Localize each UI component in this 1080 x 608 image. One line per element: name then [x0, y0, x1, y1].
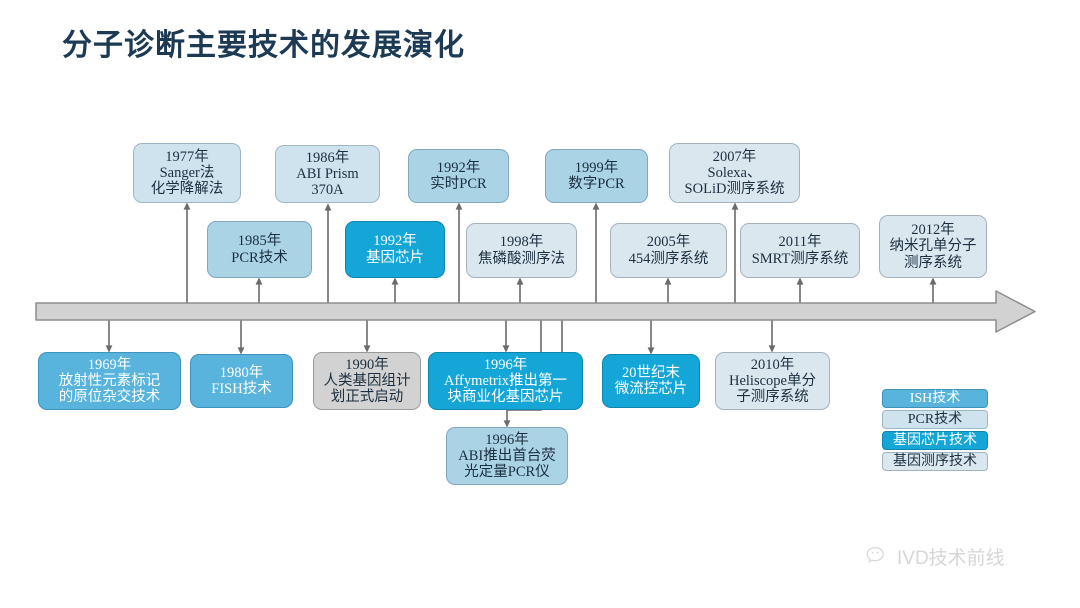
timeline-node-n1969[interactable]: 1969年 放射性元素标记 的原位杂交技术: [38, 352, 181, 410]
timeline-node-n1992pcr[interactable]: 1992年 实时PCR: [408, 149, 509, 203]
timeline-node-n2005[interactable]: 2005年 454测序系统: [610, 223, 727, 278]
timeline-node-n1996abi[interactable]: 1996年 ABI推出首台荧 光定量PCR仪: [446, 427, 568, 485]
legend-item-3[interactable]: 基因测序技术: [882, 452, 988, 471]
watermark-text: IVD技术前线: [897, 543, 1005, 570]
technology-legend: ISH技术PCR技术基因芯片技术基因测序技术: [882, 389, 988, 473]
timeline-node-n2010[interactable]: 2010年 Heliscope单分 子测序系统: [715, 352, 830, 410]
timeline-node-n2011[interactable]: 2011年 SMRT测序系统: [740, 223, 860, 278]
main-timeline-arrow: [36, 291, 1035, 332]
timeline-node-n1999[interactable]: 1999年 数字PCR: [545, 149, 648, 203]
timeline-node-n2012[interactable]: 2012年 纳米孔单分子 测序系统: [879, 215, 987, 278]
timeline-node-n1986[interactable]: 1986年 ABI Prism 370A: [275, 145, 380, 203]
timeline-node-n1990[interactable]: 1990年 人类基因组计 划正式启动: [313, 352, 421, 410]
timeline-node-n1998[interactable]: 1998年 焦磷酸测序法: [466, 223, 577, 278]
watermark: IVD技术前线: [866, 543, 1005, 570]
timeline-node-n1992chip[interactable]: 1992年 基因芯片: [345, 221, 445, 278]
legend-item-2[interactable]: 基因芯片技术: [882, 431, 988, 450]
timeline-node-n1980[interactable]: 1980年 FISH技术: [190, 354, 293, 408]
wechat-icon: [866, 546, 890, 567]
connector-layer: [0, 0, 1080, 608]
timeline-node-n20cend[interactable]: 20世纪末 微流控芯片: [602, 354, 700, 408]
timeline-node-n1977[interactable]: 1977年 Sanger法 化学降解法: [133, 143, 241, 203]
timeline-node-n1985[interactable]: 1985年 PCR技术: [207, 221, 312, 278]
timeline-node-n1996aff[interactable]: 1996年 Affymetrix推出第一 块商业化基因芯片: [428, 352, 583, 410]
timeline-node-n2007[interactable]: 2007年 Solexa、 SOLiD测序系统: [669, 143, 800, 203]
legend-item-1[interactable]: PCR技术: [882, 410, 988, 429]
slide-canvas: 分子诊断主要技术的发展演化: [0, 0, 1080, 608]
legend-item-0[interactable]: ISH技术: [882, 389, 988, 408]
